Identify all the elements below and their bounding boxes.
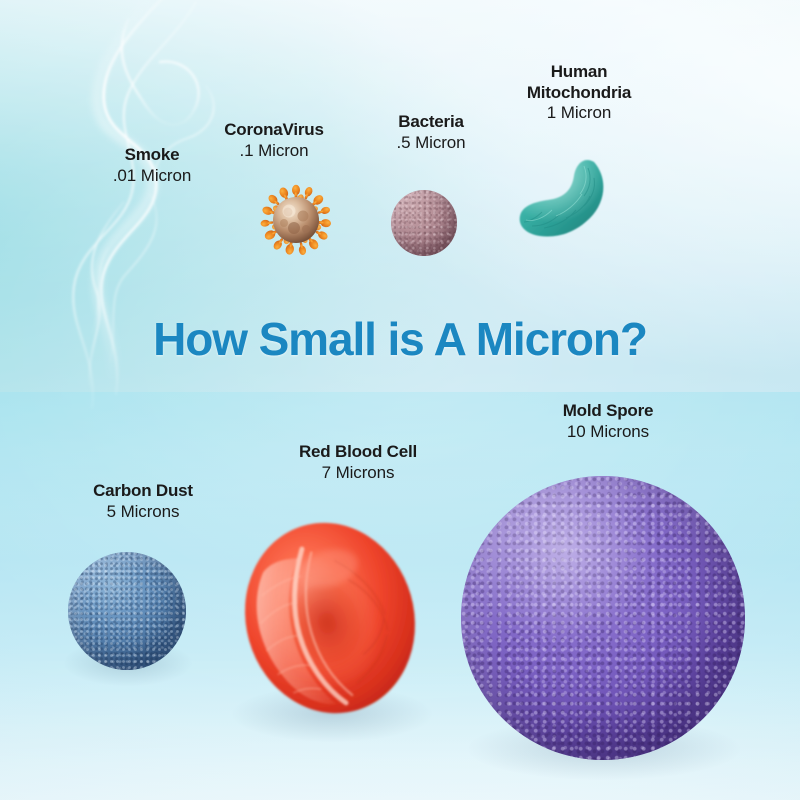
label-mitochondria-name-line1: Human [489, 62, 669, 83]
label-coronavirus-size: .1 Micron [184, 141, 364, 162]
label-mold-spore-size: 10 Microns [513, 422, 703, 443]
coronavirus-specimen [258, 182, 334, 258]
carbon-dust-specimen [68, 552, 186, 670]
micron-size-infographic: Smoke .01 Micron CoronaVirus .1 Micron B… [0, 0, 800, 800]
label-red-blood-cell-name: Red Blood Cell [263, 442, 453, 463]
label-smoke-size: .01 Micron [62, 166, 242, 187]
label-mitochondria-size: 1 Micron [489, 103, 669, 124]
page-title: How Small is A Micron? [0, 312, 800, 366]
red-blood-cell-specimen [226, 512, 434, 724]
label-mitochondria: Human Mitochondria 1 Micron [489, 62, 669, 124]
label-mold-spore-name: Mold Spore [513, 401, 703, 422]
label-coronavirus-name: CoronaVirus [184, 120, 364, 141]
label-carbon-dust-size: 5 Microns [48, 502, 238, 523]
label-carbon-dust: Carbon Dust 5 Microns [48, 481, 238, 522]
label-bacteria-size: .5 Micron [341, 133, 521, 154]
bacteria-specimen [391, 190, 457, 256]
label-mitochondria-name-line2: Mitochondria [489, 83, 669, 104]
label-carbon-dust-name: Carbon Dust [48, 481, 238, 502]
label-coronavirus: CoronaVirus .1 Micron [184, 120, 364, 161]
label-red-blood-cell: Red Blood Cell 7 Microns [263, 442, 453, 483]
mold-spore-specimen [461, 476, 745, 760]
label-red-blood-cell-size: 7 Microns [263, 463, 453, 484]
label-mold-spore: Mold Spore 10 Microns [513, 401, 703, 442]
mitochondria-specimen [512, 152, 616, 268]
